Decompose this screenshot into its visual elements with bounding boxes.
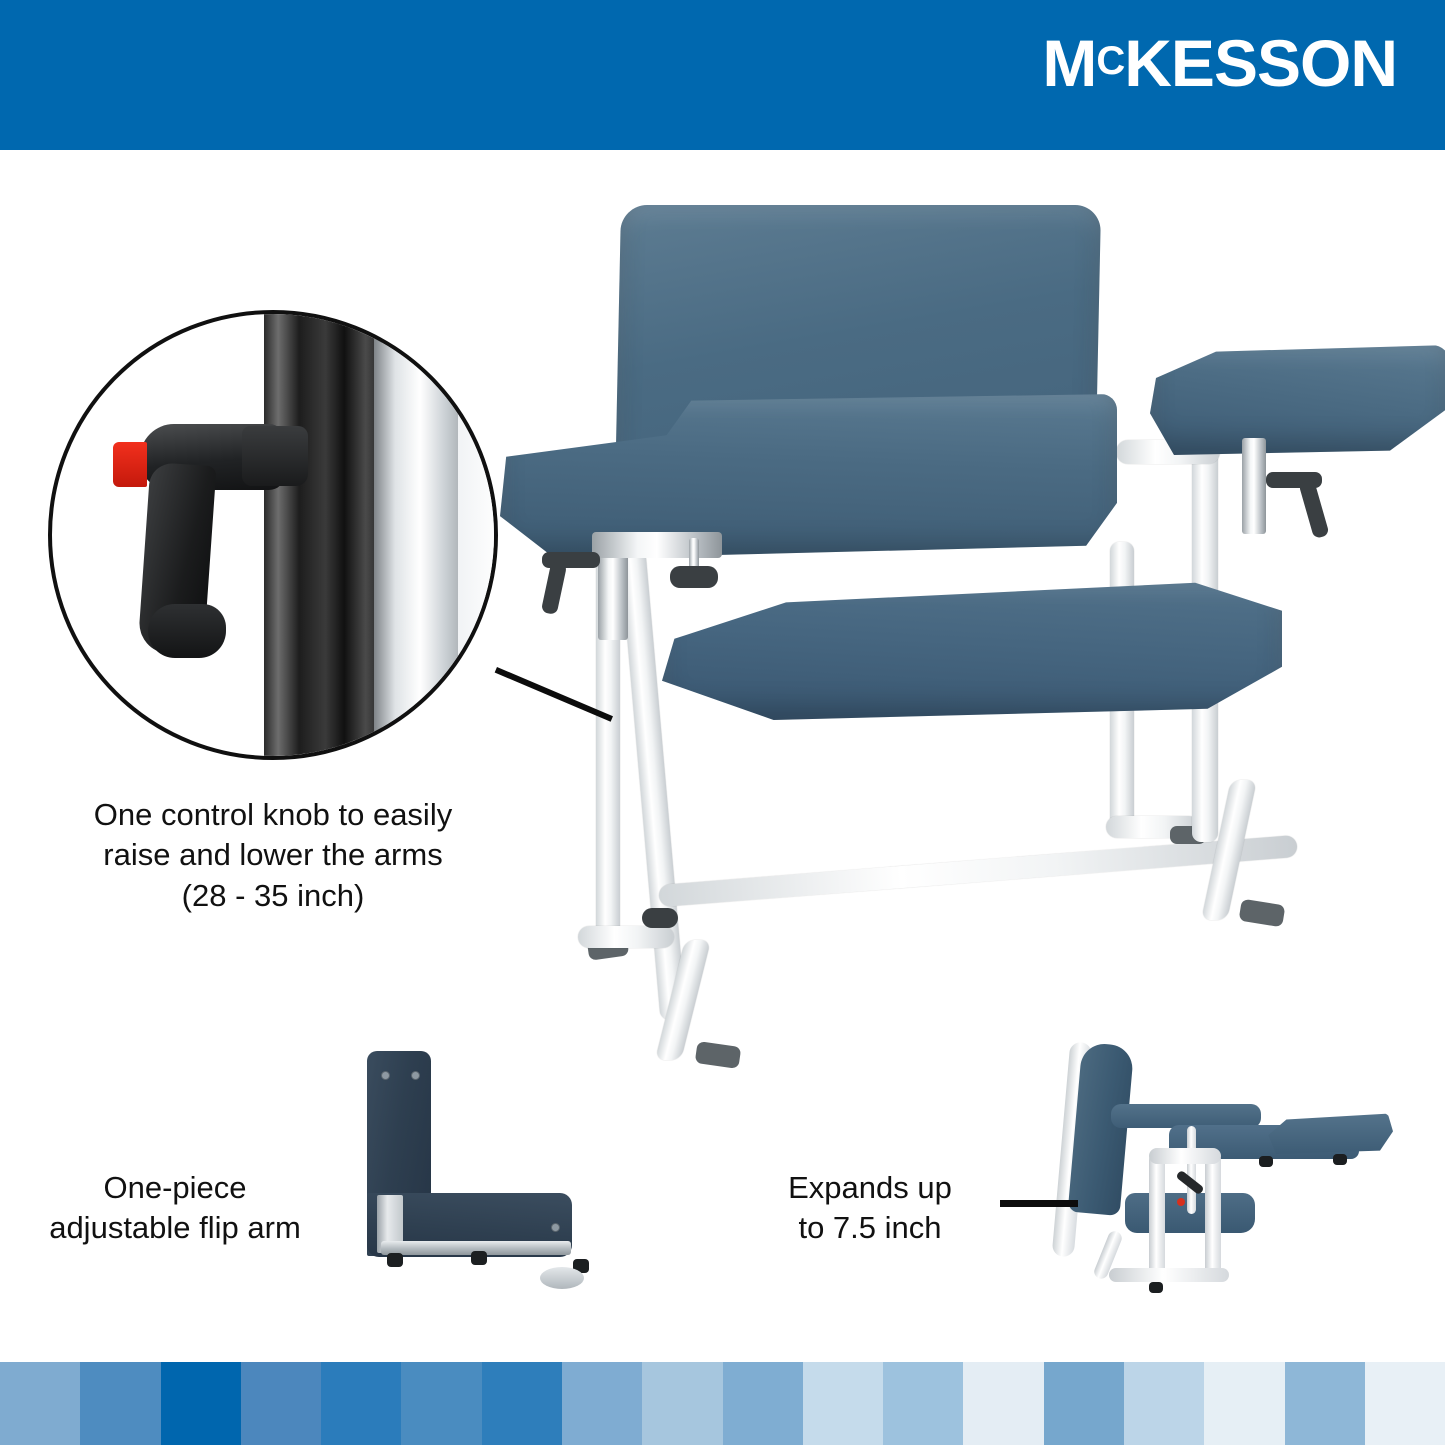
brand-letters-rest: KESSON [1124, 26, 1397, 100]
swatch-9 [642, 1362, 722, 1445]
brand-letter-m: M [1042, 26, 1096, 100]
swatch-1 [0, 1362, 80, 1445]
expansion-frame-arch-top [1149, 1148, 1221, 1164]
swatch-6 [401, 1362, 481, 1445]
swatch-16 [1204, 1362, 1284, 1445]
expansion-release-lever-red-button [1177, 1198, 1185, 1206]
swatch-2 [80, 1362, 160, 1445]
caption-flip-arm: One-piece adjustable flip arm [10, 1168, 340, 1249]
flip-arm-foot-left [387, 1253, 403, 1267]
chair-frame-left-front-leg [619, 550, 686, 1020]
chair-foot-right-front [1239, 899, 1286, 928]
flip-arm-illustration [355, 1045, 675, 1325]
flip-arm-screw-top-left [381, 1071, 390, 1080]
expansion-arm-center-post [1187, 1126, 1196, 1214]
inset-lever-hook-tip [148, 604, 226, 658]
mckesson-logo: MCKESSON [1042, 30, 1397, 96]
caption-flip-arm-line1: One-piece [10, 1168, 340, 1208]
expansion-illustration [1045, 1030, 1415, 1320]
expansion-seat-foot [1149, 1282, 1163, 1293]
caption-control-knob: One control knob to easily raise and low… [48, 795, 498, 916]
swatch-12 [883, 1362, 963, 1445]
product-illustration-stage: One control knob to easily raise and low… [0, 150, 1445, 1362]
swatch-11 [803, 1362, 883, 1445]
inset-chrome-tube-bright [374, 310, 470, 760]
expansion-pointer-line [1000, 1200, 1078, 1207]
flip-arm-base-disc [540, 1267, 584, 1289]
swatch-4 [241, 1362, 321, 1445]
swatch-15 [1124, 1362, 1204, 1445]
flip-arm-foot-center [471, 1251, 487, 1265]
flip-arm-screw-right [551, 1223, 560, 1232]
inset-chrome-tube-dark [264, 310, 382, 760]
chair-center-adjuster-knob[interactable] [670, 566, 718, 588]
brand-header-bar: MCKESSON [0, 0, 1445, 150]
inset-lever-red-release-button [113, 442, 147, 487]
swatch-5 [321, 1362, 401, 1445]
caption-control-knob-line2: raise and lower the arms [48, 835, 498, 875]
caption-flip-arm-line2: adjustable flip arm [10, 1208, 340, 1248]
caption-expansion-line2: to 7.5 inch [760, 1208, 980, 1248]
swatch-18 [1365, 1362, 1445, 1445]
expansion-extended-arm-cushion [1263, 1112, 1393, 1154]
expansion-arm-foot-left [1259, 1156, 1273, 1167]
chair-frame-left-foot-rail [578, 926, 674, 948]
brand-letter-c-superscript: C [1096, 39, 1124, 83]
inset-background-highlight [458, 310, 498, 760]
chair-foot-left-front [695, 1041, 742, 1069]
expansion-frame-upright [1149, 1152, 1165, 1282]
control-knob-detail-inset [48, 310, 498, 760]
caption-control-knob-line3: (28 - 35 inch) [48, 876, 498, 916]
chair-seat-side-roller [642, 908, 678, 928]
caption-expansion-line1: Expands up [760, 1168, 980, 1208]
expansion-frame-upright-right [1205, 1152, 1221, 1282]
chair-frame-stretcher-bar [658, 835, 1298, 907]
swatch-7 [482, 1362, 562, 1445]
flip-arm-screw-top-right [411, 1071, 420, 1080]
chair-left-lock-lever-tail[interactable] [541, 561, 567, 615]
swatch-17 [1285, 1362, 1365, 1445]
caption-expansion: Expands up to 7.5 inch [760, 1168, 980, 1249]
chair-right-arm-chrome-post [1242, 438, 1266, 534]
swatch-8 [562, 1362, 642, 1445]
chair-lower-seat-cushion [662, 580, 1282, 720]
inset-lever-neck [242, 426, 308, 486]
chair-right-flip-arm-cushion [1150, 345, 1445, 455]
expansion-arm-foot-right [1333, 1154, 1347, 1165]
caption-control-knob-line1: One control knob to easily [48, 795, 498, 835]
swatch-3 [161, 1362, 241, 1445]
chair-right-arm-lock-lever-tail[interactable] [1298, 479, 1329, 539]
swatch-13 [963, 1362, 1043, 1445]
swatch-10 [723, 1362, 803, 1445]
chair-left-bracket-plate [592, 532, 722, 558]
expansion-frame-base-rail [1109, 1268, 1229, 1282]
swatch-14 [1044, 1362, 1124, 1445]
brand-color-swatch-strip [0, 1362, 1445, 1445]
